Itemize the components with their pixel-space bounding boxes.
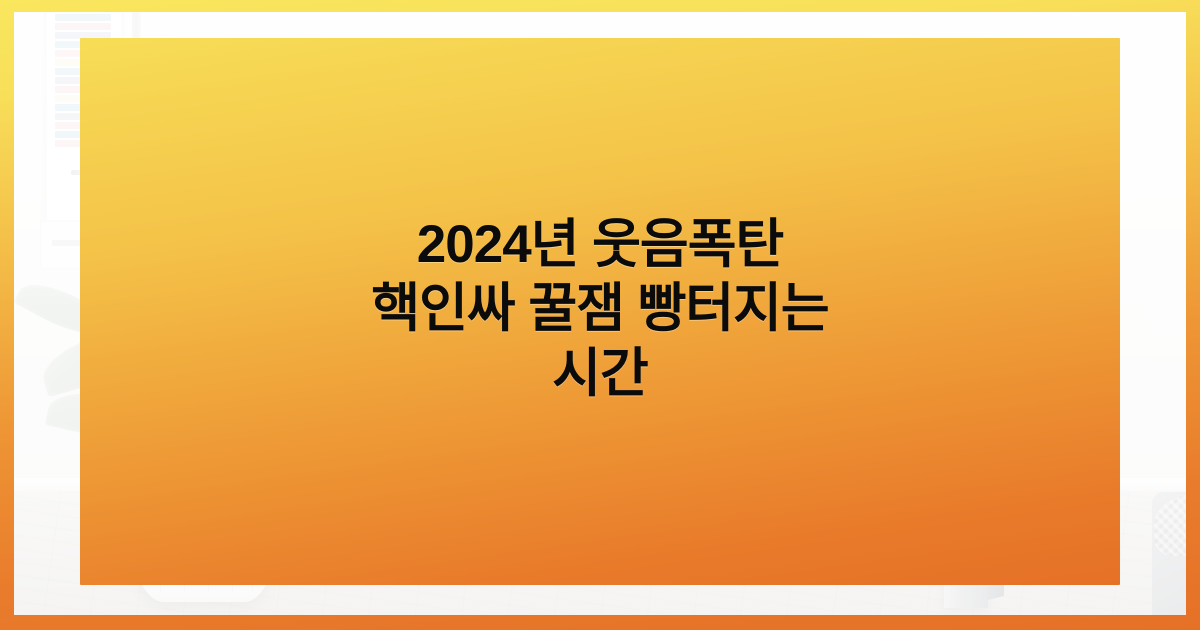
photo-stage: GONE GIRL DIRECTOR David Fincher STARRIN…: [14, 12, 1186, 615]
title-block: 2024년 웃음폭탄핵인싸 꿀잼 빵터지는시간: [14, 12, 1186, 615]
thumbnail-card: GONE GIRL DIRECTOR David Fincher STARRIN…: [0, 0, 1200, 630]
page-title: 2024년 웃음폭탄핵인싸 꿀잼 빵터지는시간: [280, 213, 920, 407]
